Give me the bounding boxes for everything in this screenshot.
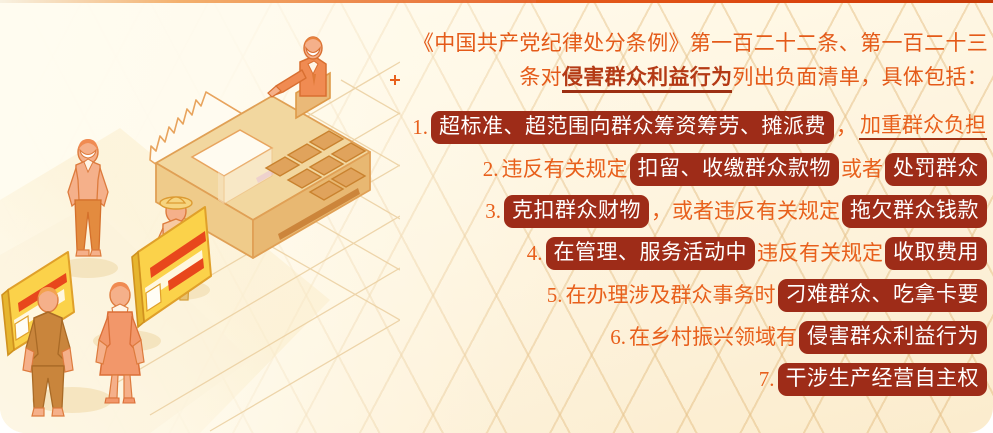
poster-root: 吃拿卡要 — [0, 0, 993, 433]
list-item: 6.在乡村振兴领域有侵害群众利益行为 — [395, 316, 988, 358]
clerk-figure — [268, 37, 326, 97]
plain-text: ，或者违反有关规定 — [650, 201, 841, 222]
highlight-pill: 拖欠群众钱款 — [842, 195, 987, 228]
list-item-number: 7. — [759, 367, 775, 392]
list-item-number: 5. — [547, 283, 563, 308]
plain-text: 违反有关规定 — [501, 159, 629, 180]
plain-text: 在办理涉及群众事务时 — [565, 285, 777, 306]
intro-paragraph: 《中国共产党纪律处分条例》第一百二十二条、第一百二十三条对侵害群众利益行为列出负… — [395, 26, 988, 94]
list-item: 4.在管理、服务活动中违反有关规定收取费用 — [395, 232, 988, 274]
text-column: 《中国共产党纪律处分条例》第一百二十二条、第一百二十三条对侵害群众利益行为列出负… — [395, 0, 993, 433]
highlight-pill: 处罚群众 — [885, 153, 987, 186]
list-item-number: 4. — [527, 241, 543, 266]
list-item: 5.在办理涉及群众事务时刁难群众、吃拿卡要 — [395, 274, 988, 316]
highlight-pill: 收取费用 — [885, 237, 987, 270]
highlight-pill: 克扣群众财物 — [504, 195, 649, 228]
list-item: 2.违反有关规定扣留、收缴群众款物或者处罚群众 — [395, 148, 988, 190]
highlight-pill: 超标准、超范围向群众筹资筹劳、摊派费 — [431, 111, 834, 144]
list-item-number: 1. — [412, 115, 428, 140]
intro-part2: 列出负面清单，具体包括： — [732, 65, 988, 89]
illustration: 吃拿卡要 — [0, 0, 400, 433]
illustration-svg: 吃拿卡要 — [0, 0, 400, 433]
highlight-pill: 侵害群众利益行为 — [799, 321, 987, 354]
plain-text: 在乡村振兴领域有 — [628, 327, 798, 348]
list-item-number: 2. — [483, 157, 499, 182]
list-item-number: 3. — [485, 199, 501, 224]
plain-text: 违反有关规定 — [756, 243, 884, 264]
highlight-pill: 刁难群众、吃拿卡要 — [778, 279, 988, 312]
plain-text: ， — [835, 117, 858, 138]
list-item: 1.超标准、超范围向群众筹资筹劳、摊派费，加重群众负担 — [395, 106, 988, 148]
list-item-number: 6. — [610, 325, 626, 350]
list-item: 3.克扣群众财物，或者违反有关规定拖欠群众钱款 — [395, 190, 988, 232]
list-item: 7.干涉生产经营自主权 — [395, 358, 988, 400]
violation-list: 1.超标准、超范围向群众筹资筹劳、摊派费，加重群众负担2.违反有关规定扣留、收缴… — [395, 106, 988, 400]
underlined-phrase: 加重群众负担 — [859, 115, 987, 140]
highlight-pill: 在管理、服务活动中 — [546, 237, 756, 270]
intro-highlight: 侵害群众利益行为 — [562, 65, 732, 93]
highlight-pill: 干涉生产经营自主权 — [778, 363, 988, 396]
highlight-pill: 扣留、收缴群众款物 — [630, 153, 840, 186]
plain-text: 或者 — [840, 159, 884, 180]
